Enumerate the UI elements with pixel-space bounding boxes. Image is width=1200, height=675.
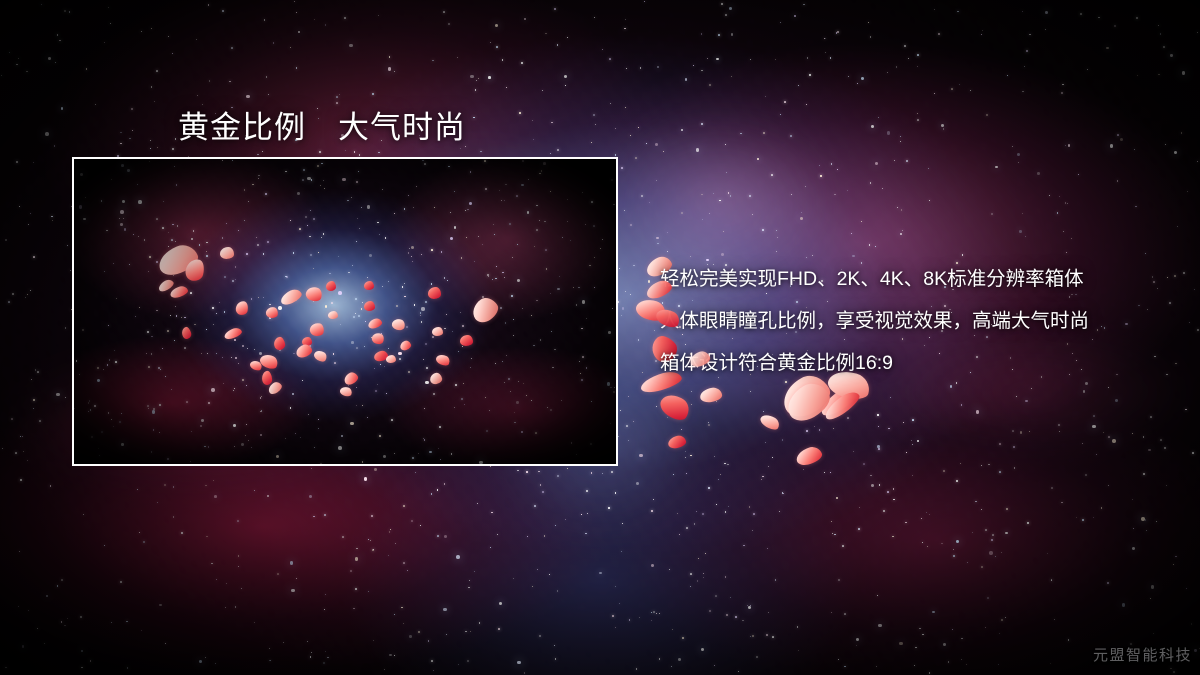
- flower-petal: [460, 335, 473, 346]
- nebula-inset-frame: [72, 157, 618, 466]
- flower-petal: [432, 327, 443, 336]
- flower-petal: [364, 281, 374, 290]
- flower-petal: [326, 281, 336, 291]
- body-line-3: 箱体设计符合黄金比例16:9: [660, 342, 1180, 384]
- body-line-2: 人体眼睛瞳孔比例，享受视觉效果，高端大气时尚: [660, 300, 1180, 342]
- flower-petal: [220, 247, 234, 259]
- flower-petal: [428, 287, 441, 299]
- watermark-text: 元盟智能科技: [1093, 644, 1192, 665]
- slide-title: 黄金比例 大气时尚: [178, 102, 466, 147]
- flower-petal: [386, 355, 396, 363]
- body-line-1: 轻松完美实现FHD、2K、4K、8K标准分辨率箱体: [660, 258, 1180, 300]
- flower-petal: [328, 311, 338, 319]
- presentation-slide: 黄金比例 大气时尚 轻松完美实现FHD、2K、4K、8K标准分辨率箱体 人体眼睛…: [0, 0, 1200, 675]
- slide-body-text: 轻松完美实现FHD、2K、4K、8K标准分辨率箱体 人体眼睛瞳孔比例，享受视觉效…: [660, 258, 1180, 384]
- flower-petal: [364, 301, 375, 311]
- inset-starfield: [74, 159, 616, 464]
